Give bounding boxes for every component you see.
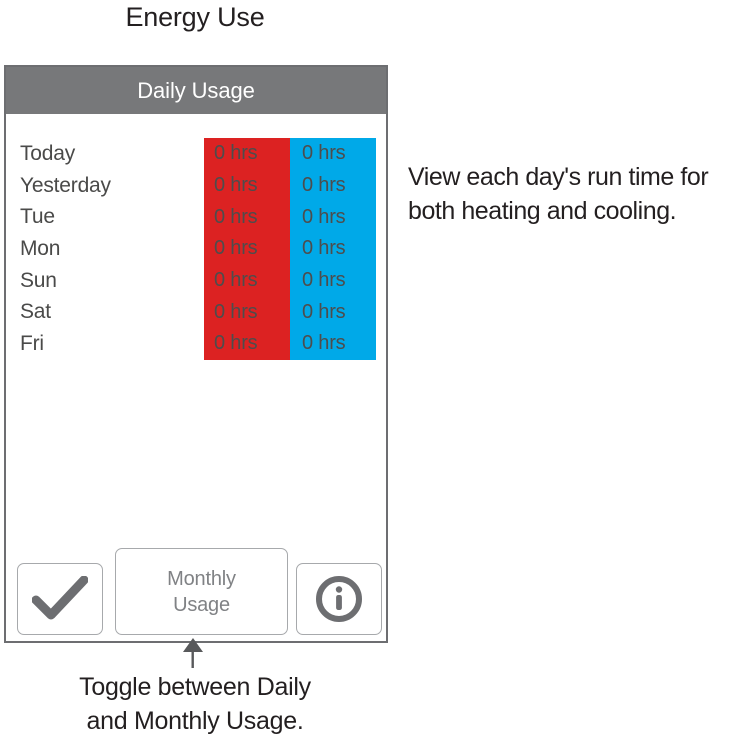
day-label: Yesterday: [20, 174, 111, 198]
info-button[interactable]: [296, 563, 382, 635]
heating-value: 0 hrs: [214, 237, 257, 260]
day-label: Sat: [20, 300, 51, 324]
usage-rows: Today 0 hrs 0 hrs Yesterday 0 hrs 0 hrs …: [6, 138, 386, 360]
confirm-button[interactable]: [17, 563, 103, 635]
cooling-value: 0 hrs: [302, 174, 345, 197]
cooling-value: 0 hrs: [302, 237, 345, 260]
heating-value: 0 hrs: [214, 206, 257, 229]
cooling-value: 0 hrs: [302, 206, 345, 229]
button-bar: Monthly Usage: [6, 541, 386, 635]
toggle-monthly-usage-label: Monthly Usage: [167, 566, 236, 618]
heating-value: 0 hrs: [214, 142, 257, 165]
day-label: Mon: [20, 237, 60, 261]
panel-header-title: Daily Usage: [137, 78, 255, 104]
toggle-monthly-usage-button[interactable]: Monthly Usage: [115, 548, 288, 635]
table-row: Sun 0 hrs 0 hrs: [6, 265, 386, 297]
cooling-value: 0 hrs: [302, 142, 345, 165]
table-row: Tue 0 hrs 0 hrs: [6, 201, 386, 233]
bottom-annotation-text: Toggle between Daily and Monthly Usage.: [0, 670, 390, 738]
cooling-value: 0 hrs: [302, 269, 345, 292]
table-row: Yesterday 0 hrs 0 hrs: [6, 170, 386, 202]
table-row: Sat 0 hrs 0 hrs: [6, 296, 386, 328]
callout-arrow-icon: [182, 638, 204, 668]
day-label: Fri: [20, 332, 44, 356]
cooling-value: 0 hrs: [302, 301, 345, 324]
day-label: Today: [20, 142, 75, 166]
right-annotation-text: View each day's run time for both heatin…: [408, 160, 754, 228]
info-circle-icon: [314, 574, 364, 624]
heating-value: 0 hrs: [214, 174, 257, 197]
heating-value: 0 hrs: [214, 332, 257, 355]
heating-value: 0 hrs: [214, 301, 257, 324]
checkmark-icon: [32, 576, 88, 622]
page-title: Energy Use: [0, 0, 390, 34]
thermostat-screen-panel: Daily Usage Today 0 hrs 0 hrs Yesterday …: [4, 65, 388, 643]
table-row: Mon 0 hrs 0 hrs: [6, 233, 386, 265]
table-row: Today 0 hrs 0 hrs: [6, 138, 386, 170]
panel-header: Daily Usage: [6, 67, 386, 114]
table-row: Fri 0 hrs 0 hrs: [6, 328, 386, 360]
daily-usage-table: Today 0 hrs 0 hrs Yesterday 0 hrs 0 hrs …: [6, 114, 386, 339]
day-label: Sun: [20, 269, 57, 293]
day-label: Tue: [20, 205, 55, 229]
cooling-value: 0 hrs: [302, 332, 345, 355]
heating-value: 0 hrs: [214, 269, 257, 292]
